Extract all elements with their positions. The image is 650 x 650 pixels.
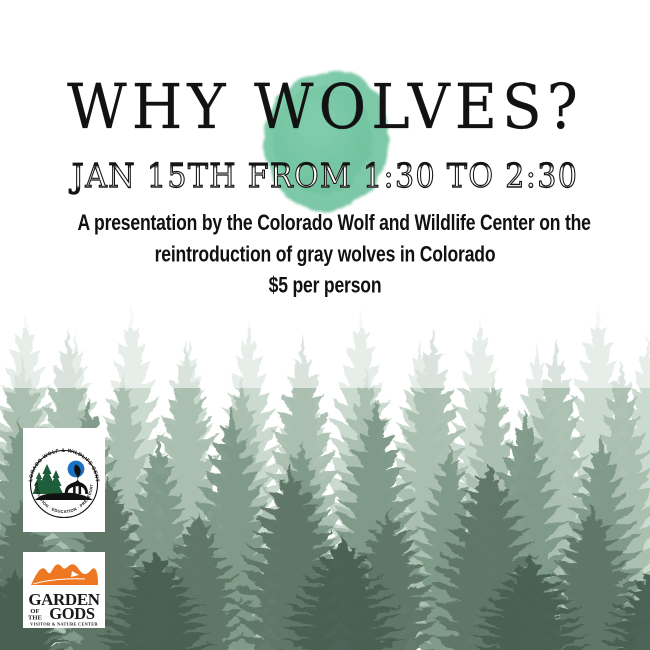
- event-datetime-subtitle: JAN 15TH FROM 1:30 TO 2:30: [10, 156, 641, 198]
- gotg-line-gods: GODS: [49, 604, 95, 623]
- event-description: A presentation by the Colorado Wolf and …: [78, 208, 573, 302]
- description-line-1: A presentation by the Colorado Wolf and …: [78, 208, 573, 239]
- event-poster: WHY WOLVES? JAN 15TH FROM 1:30 TO 2:30 A…: [0, 0, 650, 650]
- gotg-line-the: THE: [28, 615, 43, 622]
- rock-formation-icon: [31, 564, 98, 585]
- description-line-2: reintroduction of gray wolves in Colorad…: [78, 239, 573, 270]
- logo-colorado-wolf-wildlife-center: COLORADO WOLF & WILDLIFE CENTER CONSERVA…: [23, 428, 105, 532]
- logo-garden-of-the-gods: GARDEN OF THE GODS VISITOR & NATURE CENT…: [23, 552, 105, 628]
- description-line-3-price: $5 per person: [78, 271, 573, 302]
- gotg-tagline: VISITOR & NATURE CENTER: [30, 622, 98, 627]
- logo-arc-top-text: COLORADO WOLF & WILDLIFE CENTER: [23, 428, 100, 483]
- page-title: WHY WOLVES?: [0, 74, 650, 140]
